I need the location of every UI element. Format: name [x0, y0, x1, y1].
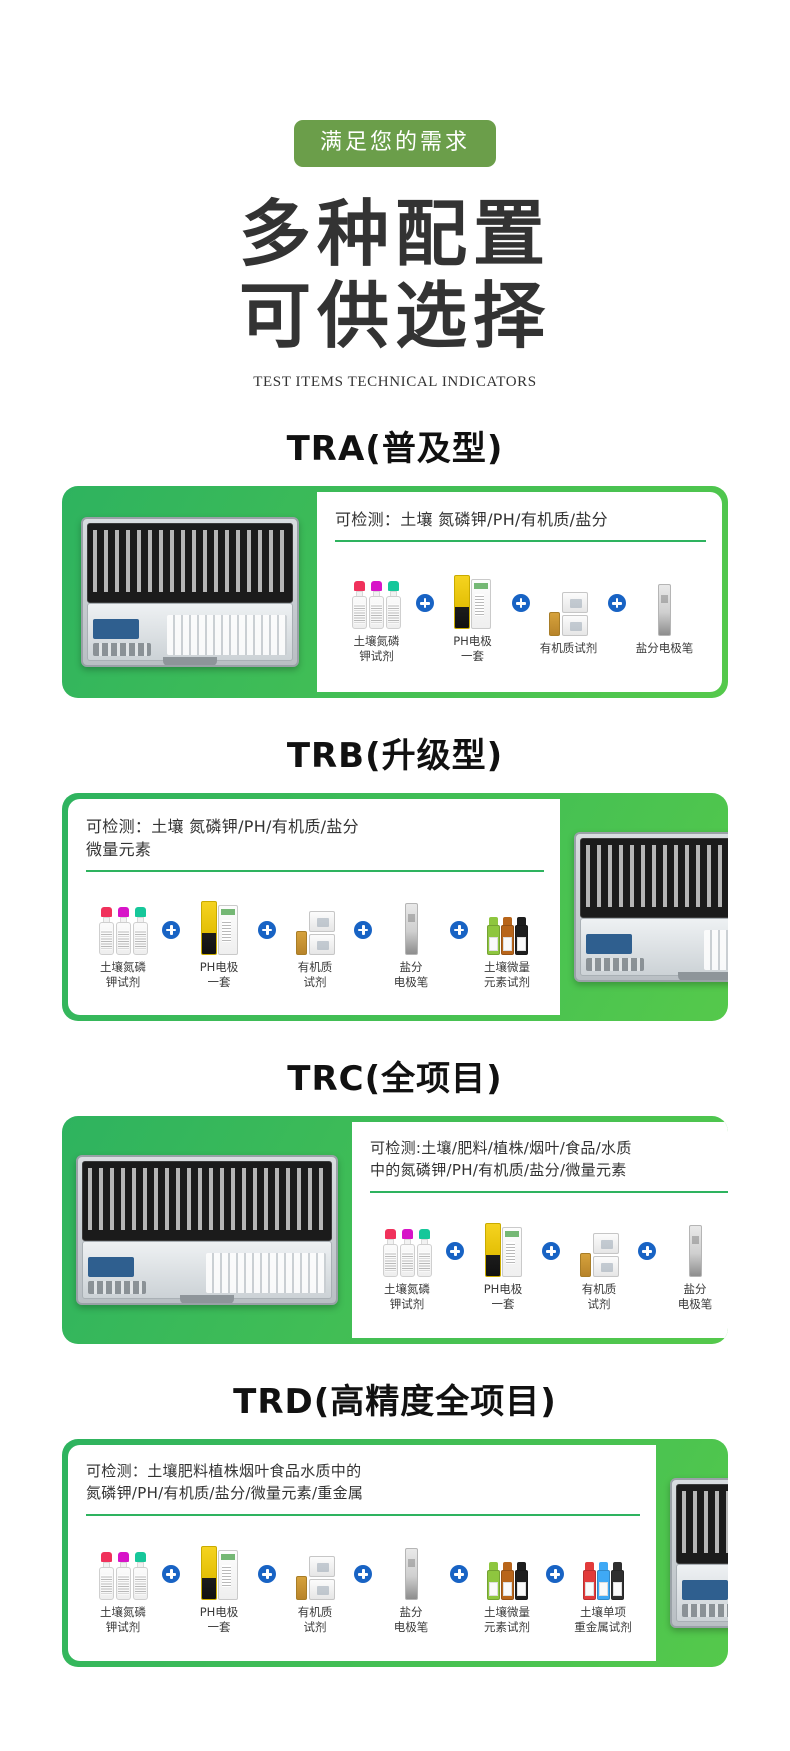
plus-icon [162, 1565, 180, 1583]
photo-pane-trb [560, 793, 728, 1021]
case-vial-rack [206, 1253, 326, 1293]
plus-icon [638, 1242, 656, 1260]
product-case-photo-trc [76, 1155, 338, 1305]
included-item-label: 土壤单项 重金属试剂 [574, 1605, 632, 1634]
plus-icon [542, 1242, 560, 1260]
included-item-label: 土壤微量 元素试剂 [484, 1605, 530, 1634]
detect-description-tra: 可检测：土壤 氮磷钾/PH/有机质/盐分 [335, 508, 706, 531]
section-tra: TRA(普及型)可检测：土壤 氮磷钾/PH/有机质/盐分土壤氮磷 钾试剂PH电极… [0, 421, 790, 698]
micro-element-reagent-icon [487, 893, 528, 955]
included-item: 盐分 电极笔 [374, 893, 448, 989]
photo-pane-tra [62, 486, 317, 698]
case-vial-rack [167, 615, 287, 655]
micro-element-reagent-icon [487, 1538, 528, 1600]
case-lid [580, 838, 728, 918]
included-item-label: 有机质 试剂 [582, 1282, 617, 1311]
salinity-pen-icon [689, 1215, 702, 1277]
product-case-photo-trd [670, 1478, 728, 1628]
organic-matter-reagent-icon [580, 1215, 619, 1277]
included-item-label: 土壤氮磷 钾试剂 [354, 634, 400, 663]
product-card-trc[interactable]: 可检测:土壤/肥料/植株/烟叶/食品/水质 中的氮磷钾/PH/有机质/盐分/微量… [62, 1116, 728, 1344]
product-case-photo-trb [574, 832, 728, 982]
heavy-metal-reagent-icon [583, 1538, 624, 1600]
reagent-bottles-icon [99, 1538, 148, 1600]
product-case-photo-tra [81, 517, 299, 667]
detect-description-trd: 可检测：土壤肥料植株烟叶食品水质中的 氮磷钾/PH/有机质/盐分/微量元素/重金… [86, 1461, 640, 1505]
included-item: 土壤氮磷 钾试剂 [86, 1538, 160, 1634]
plus-icon [258, 921, 276, 939]
included-item: 土壤微量 元素试剂 [470, 1538, 544, 1634]
included-item-label: 盐分 电极笔 [394, 1605, 429, 1634]
plus-icon [450, 1565, 468, 1583]
case-handle [163, 657, 217, 666]
case-lid [676, 1484, 728, 1564]
detect-description-trc: 可检测:土壤/肥料/植株/烟叶/食品/水质 中的氮磷钾/PH/有机质/盐分/微量… [370, 1138, 728, 1182]
ph-electrode-icon [201, 1538, 238, 1600]
photo-pane-trd [656, 1439, 728, 1667]
organic-matter-reagent-icon [549, 574, 588, 636]
divider [86, 1514, 640, 1516]
page-subtitle: TEST ITEMS TECHNICAL INDICATORS [0, 374, 790, 391]
detect-description-trb: 可检测：土壤 氮磷钾/PH/有机质/盐分 微量元素 [86, 815, 544, 861]
included-item: 土壤微量 元素试剂 [470, 893, 544, 989]
product-card-trd[interactable]: 可检测：土壤肥料植株烟叶食品水质中的 氮磷钾/PH/有机质/盐分/微量元素/重金… [62, 1439, 728, 1667]
included-items-row-trb: 土壤氮磷 钾试剂PH电极 一套有机质 试剂盐分 电极笔土壤微量 元素试剂 [86, 876, 544, 1007]
included-item: 盐分 电极笔 [658, 1215, 728, 1311]
page-title-line-1: 多种配置 [0, 193, 790, 274]
included-item-label: 土壤氮磷 钾试剂 [100, 960, 146, 989]
included-item-label: 有机质 试剂 [298, 960, 333, 989]
plus-icon [450, 921, 468, 939]
included-item: 土壤氮磷 钾试剂 [340, 567, 414, 663]
hero-badge: 满足您的需求 [294, 120, 496, 167]
reagent-bottles-icon [99, 893, 148, 955]
included-item-label: PH电极 一套 [200, 1605, 239, 1634]
plus-icon [546, 1565, 564, 1583]
included-item: 盐分 电极笔 [374, 1538, 448, 1634]
product-card-tra[interactable]: 可检测：土壤 氮磷钾/PH/有机质/盐分土壤氮磷 钾试剂PH电极 一套有机质试剂… [62, 486, 728, 698]
info-pane-trd: 可检测：土壤肥料植株烟叶食品水质中的 氮磷钾/PH/有机质/盐分/微量元素/重金… [68, 1445, 656, 1661]
salinity-pen-icon [405, 893, 418, 955]
plus-icon [446, 1242, 464, 1260]
instrument-screen [93, 619, 139, 639]
included-item-label: 盐分电极笔 [636, 641, 694, 656]
included-items-row-trd: 土壤氮磷 钾试剂PH电极 一套有机质 试剂盐分 电极笔土壤微量 元素试剂土壤单项… [86, 1520, 640, 1654]
product-card-trb[interactable]: 可检测：土壤 氮磷钾/PH/有机质/盐分 微量元素土壤氮磷 钾试剂PH电极 一套… [62, 793, 728, 1021]
included-item: 有机质试剂 [532, 574, 606, 656]
included-item: PH电极 一套 [466, 1215, 540, 1311]
included-item-label: 土壤氮磷 钾试剂 [384, 1282, 430, 1311]
instrument-screen [586, 934, 632, 954]
included-item: PH电极 一套 [436, 567, 510, 663]
plus-icon [354, 921, 372, 939]
case-lid [87, 523, 293, 603]
included-item: PH电极 一套 [182, 893, 256, 989]
ph-electrode-icon [485, 1215, 522, 1277]
case-vial-rack [704, 930, 728, 970]
reagent-bottles-icon [383, 1215, 432, 1277]
included-item: 盐分电极笔 [628, 574, 702, 656]
included-item: 有机质 试剂 [278, 1538, 352, 1634]
salinity-pen-icon [658, 574, 671, 636]
included-item-label: 盐分 电极笔 [394, 960, 429, 989]
page-title: 多种配置 可供选择 [0, 193, 790, 356]
instrument-keypad [88, 1281, 146, 1294]
plus-icon [162, 921, 180, 939]
section-trd: TRD(高精度全项目)可检测：土壤肥料植株烟叶食品水质中的 氮磷钾/PH/有机质… [0, 1374, 790, 1667]
included-item-label: PH电极 一套 [453, 634, 492, 663]
divider [335, 540, 706, 542]
included-item-label: 有机质 试剂 [298, 1605, 333, 1634]
model-title-trd: TRD(高精度全项目) [0, 1374, 790, 1423]
included-items-row-trc: 土壤氮磷 钾试剂PH电极 一套有机质 试剂盐分 电极笔土壤微量 元素试剂 [370, 1197, 728, 1331]
ph-electrode-icon [201, 893, 238, 955]
included-item-label: 土壤微量 元素试剂 [484, 960, 530, 989]
plus-icon [416, 594, 434, 612]
instrument-screen [682, 1580, 728, 1600]
section-trc: TRC(全项目)可检测:土壤/肥料/植株/烟叶/食品/水质 中的氮磷钾/PH/有… [0, 1051, 790, 1344]
included-item: 有机质 试剂 [278, 893, 352, 989]
organic-matter-reagent-icon [296, 1538, 335, 1600]
included-item-label: PH电极 一套 [484, 1282, 523, 1311]
salinity-pen-icon [405, 1538, 418, 1600]
instrument-screen [88, 1257, 134, 1277]
reagent-bottles-icon [352, 567, 401, 629]
included-item-label: 土壤氮磷 钾试剂 [100, 1605, 146, 1634]
instrument-keypad [93, 643, 151, 656]
model-title-trc: TRC(全项目) [0, 1051, 790, 1100]
plus-icon [608, 594, 626, 612]
divider [370, 1191, 728, 1193]
plus-icon [512, 594, 530, 612]
case-lid [82, 1161, 332, 1241]
organic-matter-reagent-icon [296, 893, 335, 955]
info-pane-trc: 可检测:土壤/肥料/植株/烟叶/食品/水质 中的氮磷钾/PH/有机质/盐分/微量… [352, 1122, 728, 1338]
info-pane-trb: 可检测：土壤 氮磷钾/PH/有机质/盐分 微量元素土壤氮磷 钾试剂PH电极 一套… [68, 799, 560, 1015]
included-item: 土壤氮磷 钾试剂 [86, 893, 160, 989]
info-pane-tra: 可检测：土壤 氮磷钾/PH/有机质/盐分土壤氮磷 钾试剂PH电极 一套有机质试剂… [317, 492, 722, 692]
model-sections: TRA(普及型)可检测：土壤 氮磷钾/PH/有机质/盐分土壤氮磷 钾试剂PH电极… [0, 421, 790, 1667]
included-item: 土壤氮磷 钾试剂 [370, 1215, 444, 1311]
included-item-label: 有机质试剂 [540, 641, 598, 656]
plus-icon [258, 1565, 276, 1583]
hero-header: 满足您的需求 多种配置 可供选择 TEST ITEMS TECHNICAL IN… [0, 0, 790, 391]
case-handle [678, 972, 728, 981]
plus-icon [354, 1565, 372, 1583]
page-title-line-2: 可供选择 [0, 275, 790, 356]
instrument-keypad [586, 958, 644, 971]
included-item: 土壤单项 重金属试剂 [566, 1538, 640, 1634]
model-title-trb: TRB(升级型) [0, 728, 790, 777]
included-items-row-tra: 土壤氮磷 钾试剂PH电极 一套有机质试剂盐分电极笔 [335, 546, 706, 684]
case-handle [180, 1295, 234, 1304]
included-item: 有机质 试剂 [562, 1215, 636, 1311]
instrument-keypad [682, 1604, 728, 1617]
photo-pane-trc [62, 1116, 352, 1344]
section-trb: TRB(升级型)可检测：土壤 氮磷钾/PH/有机质/盐分 微量元素土壤氮磷 钾试… [0, 728, 790, 1021]
included-item-label: 盐分 电极笔 [678, 1282, 713, 1311]
divider [86, 870, 544, 872]
included-item: PH电极 一套 [182, 1538, 256, 1634]
model-title-tra: TRA(普及型) [0, 421, 790, 470]
ph-electrode-icon [454, 567, 491, 629]
included-item-label: PH电极 一套 [200, 960, 239, 989]
